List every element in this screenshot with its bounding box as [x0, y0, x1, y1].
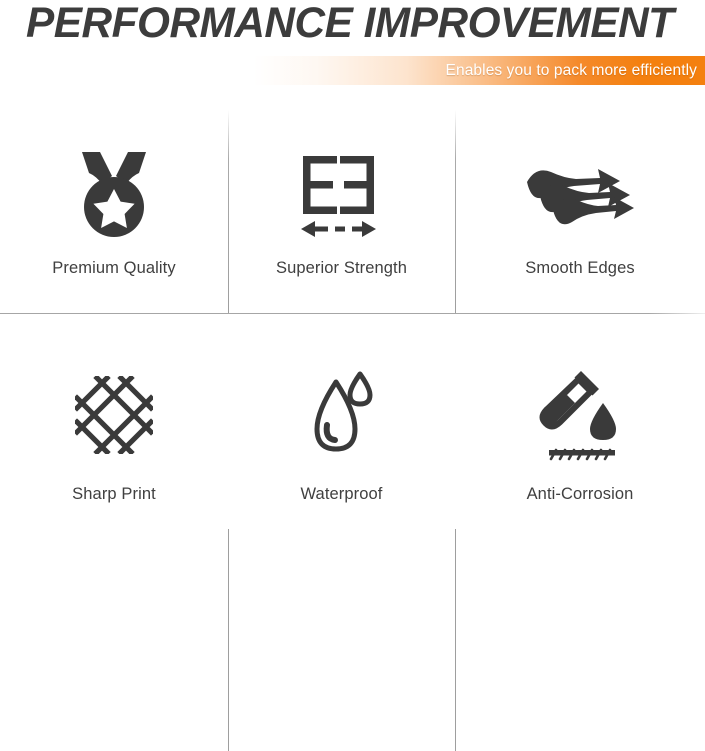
grid-divider-vertical [228, 529, 229, 751]
grid-divider-vertical [455, 110, 456, 313]
crosshatch-grid-icon [75, 359, 153, 471]
test-tube-drip-icon [537, 359, 623, 471]
subtitle-banner: Enables you to pack more efficiently [253, 56, 705, 85]
feature-cell-waterproof[interactable]: Waterproof [228, 313, 455, 536]
compression-arrows-icon [299, 139, 385, 251]
feature-row: Sharp Print Waterproof [0, 313, 705, 536]
page-header: PERFORMANCE IMPROVEMENT Enables you to p… [0, 0, 705, 98]
feature-cell-anti-corrosion[interactable]: Anti-Corrosion [455, 313, 705, 536]
feature-label: Premium Quality [52, 259, 175, 278]
subtitle-text: Enables you to pack more efficiently [446, 62, 705, 80]
feature-cell-sharp-print[interactable]: Sharp Print [0, 313, 228, 536]
feature-cell-premium-quality[interactable]: Premium Quality [0, 98, 228, 313]
feature-label: Waterproof [300, 485, 382, 504]
feature-grid: Premium Quality [0, 98, 705, 536]
page-title: PERFORMANCE IMPROVEMENT [26, 0, 674, 48]
feature-row: Premium Quality [0, 98, 705, 313]
medal-icon [75, 139, 153, 251]
grid-divider-vertical [455, 529, 456, 751]
feature-label: Smooth Edges [525, 259, 634, 278]
grid-divider-vertical [228, 110, 229, 313]
feature-cell-superior-strength[interactable]: Superior Strength [228, 98, 455, 313]
feature-label: Superior Strength [276, 259, 407, 278]
feature-label: Sharp Print [72, 485, 156, 504]
feature-cell-smooth-edges[interactable]: Smooth Edges [455, 98, 705, 313]
airflow-waves-icon [524, 139, 636, 251]
water-droplet-icon [310, 359, 374, 471]
feature-label: Anti-Corrosion [527, 485, 634, 504]
